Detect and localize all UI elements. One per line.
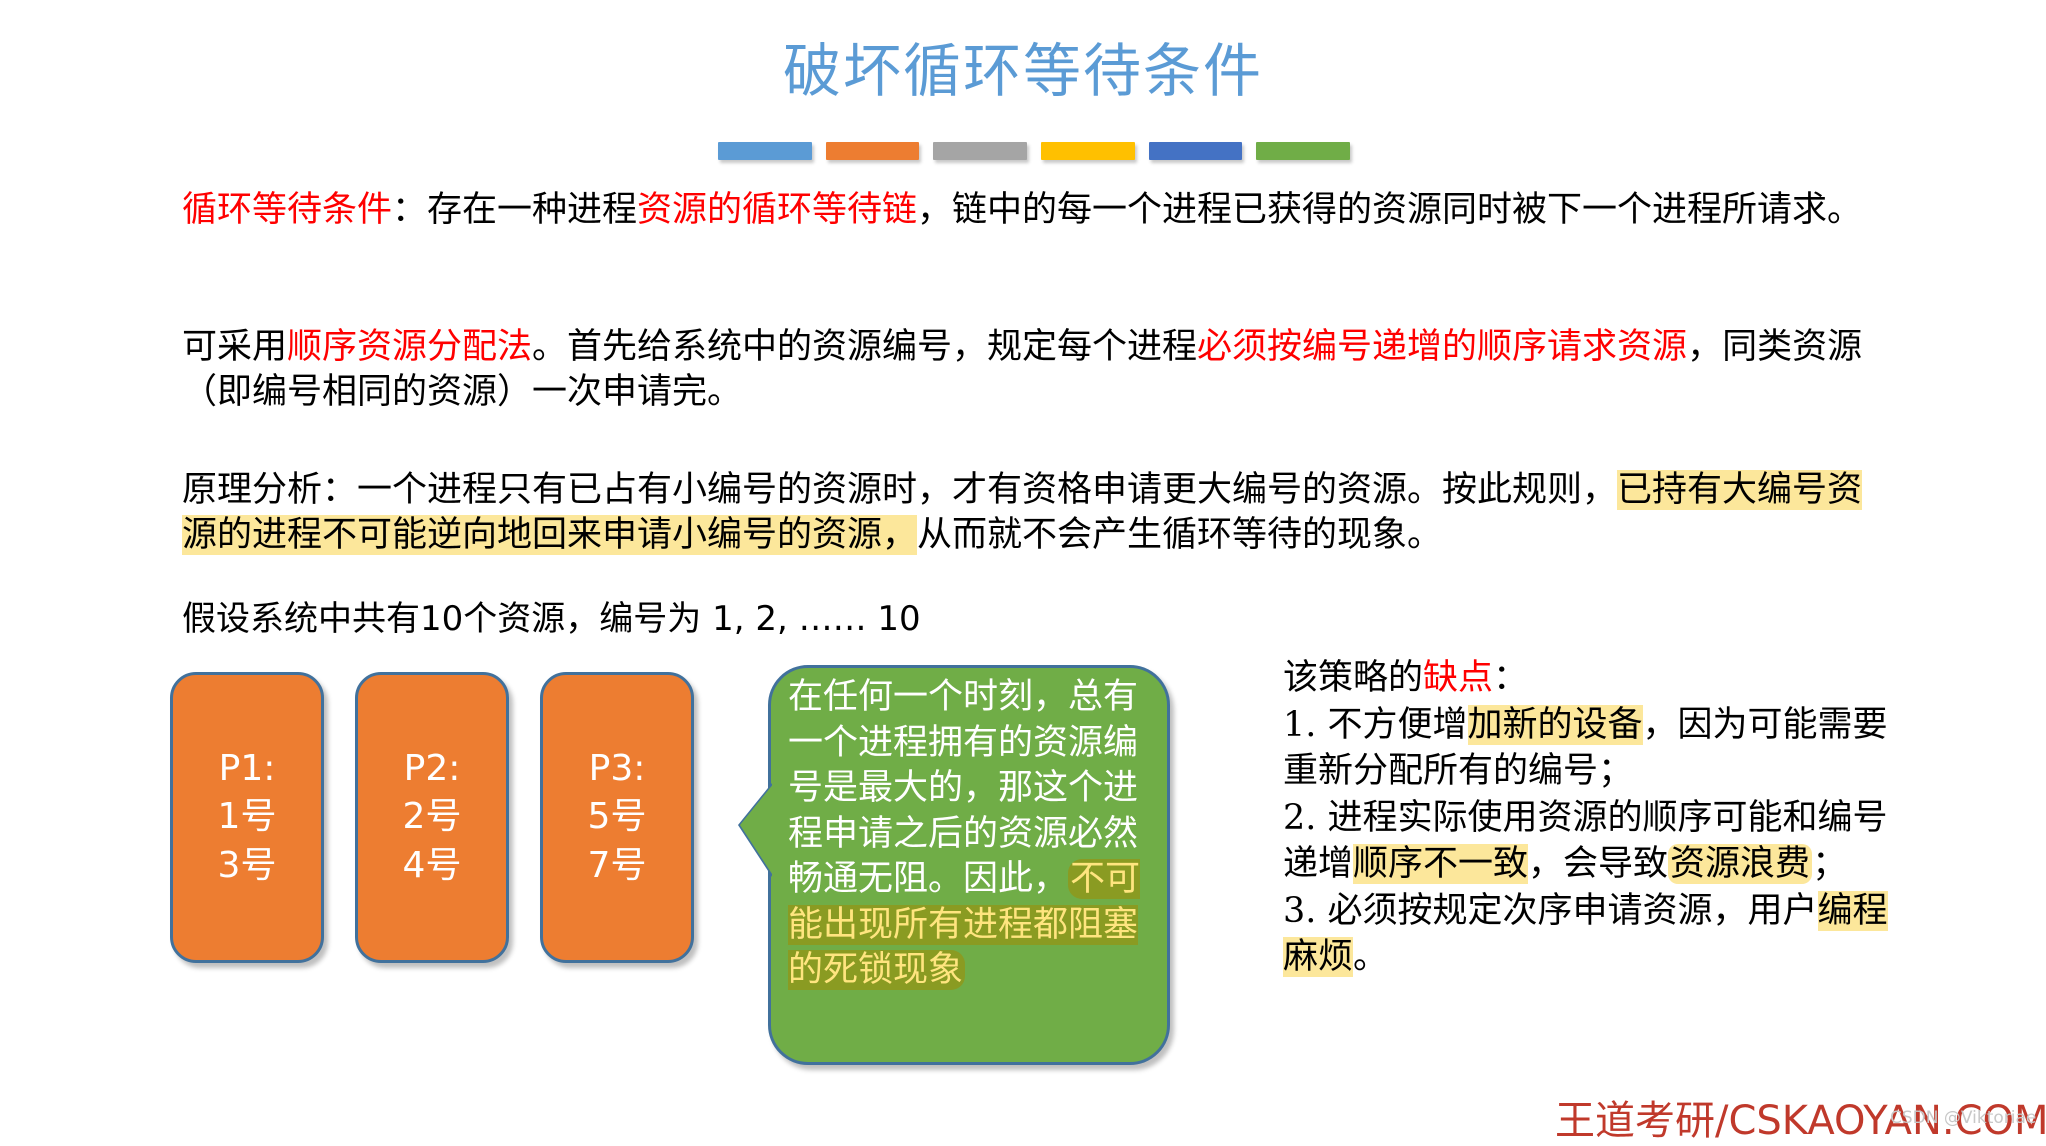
process-resource-p3-1: 7号 [588, 842, 647, 891]
process-resource-p1-0: 1号 [218, 793, 277, 842]
accent-bar-blue-dark [1149, 142, 1243, 160]
drawbacks-heading: 该策略的缺点： [1283, 655, 1903, 702]
drawbacks-heading-tail: ： [1493, 658, 1528, 698]
process-resource-p2-0: 2号 [403, 793, 462, 842]
callout-bubble-tail-icon [740, 783, 774, 877]
p1-term: 循环等待条件 [182, 190, 392, 230]
accent-bar-orange [826, 142, 920, 160]
paragraph-principle-analysis: 原理分析：一个进程只有已占有小编号的资源时，才有资格申请更大编号的资源。按此规则… [182, 468, 1882, 558]
drawback-3-tail: 。 [1353, 937, 1388, 977]
title-accent-bars [718, 142, 1350, 160]
drawback-2-mid: ，会导致 [1528, 844, 1668, 884]
drawback-item-1: 1. 不方便增加新的设备，因为可能需要重新分配所有的编号； [1283, 702, 1903, 795]
p2-emphasis-2: 必须按编号递增的顺序请求资源 [1197, 327, 1687, 367]
callout-bubble: 在任何一个时刻，总有一个进程拥有的资源编号是最大的，那这个进程申请之后的资源必然… [740, 665, 1170, 1065]
page-title: 破坏循环等待条件 [0, 38, 2046, 105]
process-label-p1: P1: [219, 745, 276, 794]
paragraph-example-assumption: 假设系统中共有10个资源，编号为 1, 2, …… 10 [182, 598, 1282, 642]
drawback-2-tail: ； [1812, 844, 1847, 884]
process-box-p1: P1: 1号 3号 [170, 672, 324, 963]
p3-lead: 原理分析：一个进程只有已占有小编号的资源时，才有资格申请更大编号的资源。按此规则… [182, 470, 1617, 510]
drawback-1-highlight: 加新的设备 [1468, 705, 1643, 745]
process-box-p3: P3: 5号 7号 [540, 672, 694, 963]
drawbacks-heading-emphasis: 缺点 [1423, 658, 1493, 698]
csdn-watermark: CSDN @Viktoriae [1890, 1108, 2036, 1128]
drawback-2-highlight-1: 顺序不一致 [1353, 844, 1528, 884]
drawback-3-lead: 3. 必须按规定次序申请资源，用户 [1283, 891, 1818, 931]
p3-rest: 从而就不会产生循环等待的现象。 [917, 515, 1442, 555]
p2-lead: 可采用 [182, 327, 287, 367]
process-box-p2: P2: 2号 4号 [355, 672, 509, 963]
p2-mid: 。首先给系统中的资源编号，规定每个进程 [532, 327, 1197, 367]
title-block: 破坏循环等待条件 [0, 38, 2046, 105]
accent-bar-gold [1041, 142, 1135, 160]
callout-bubble-text: 在任何一个时刻，总有一个进程拥有的资源编号是最大的，那这个进程申请之后的资源必然… [788, 675, 1156, 994]
drawbacks-heading-lead: 该策略的 [1283, 658, 1423, 698]
drawbacks-block: 该策略的缺点： 1. 不方便增加新的设备，因为可能需要重新分配所有的编号； 2.… [1283, 655, 1903, 981]
p1-emphasis: 资源的循环等待链 [637, 190, 917, 230]
accent-bar-blue-light [718, 142, 812, 160]
process-resource-p3-0: 5号 [588, 793, 647, 842]
drawback-2-highlight-2: 资源浪费 [1668, 844, 1812, 884]
accent-bar-green [1256, 142, 1350, 160]
p1-colon: ：存在一种进程 [392, 190, 637, 230]
p2-emphasis-1: 顺序资源分配法 [287, 327, 532, 367]
process-resource-p2-1: 4号 [403, 842, 462, 891]
drawback-1-lead: 1. 不方便增 [1283, 705, 1468, 745]
process-label-p3: P3: [589, 745, 646, 794]
p1-rest: ，链中的每一个进程已获得的资源同时被下一个进程所请求。 [917, 190, 1862, 230]
paragraph-circular-wait-definition: 循环等待条件：存在一种进程资源的循环等待链，链中的每一个进程已获得的资源同时被下… [182, 188, 1882, 233]
process-resource-p1-1: 3号 [218, 842, 277, 891]
paragraph-ordered-allocation: 可采用顺序资源分配法。首先给系统中的资源编号，规定每个进程必须按编号递增的顺序请… [182, 325, 1882, 415]
process-label-p2: P2: [404, 745, 461, 794]
drawback-item-3: 3. 必须按规定次序申请资源，用户编程麻烦。 [1283, 888, 1903, 981]
accent-bar-gray [933, 142, 1027, 160]
drawback-item-2: 2. 进程实际使用资源的顺序可能和编号递增顺序不一致，会导致资源浪费； [1283, 795, 1903, 888]
